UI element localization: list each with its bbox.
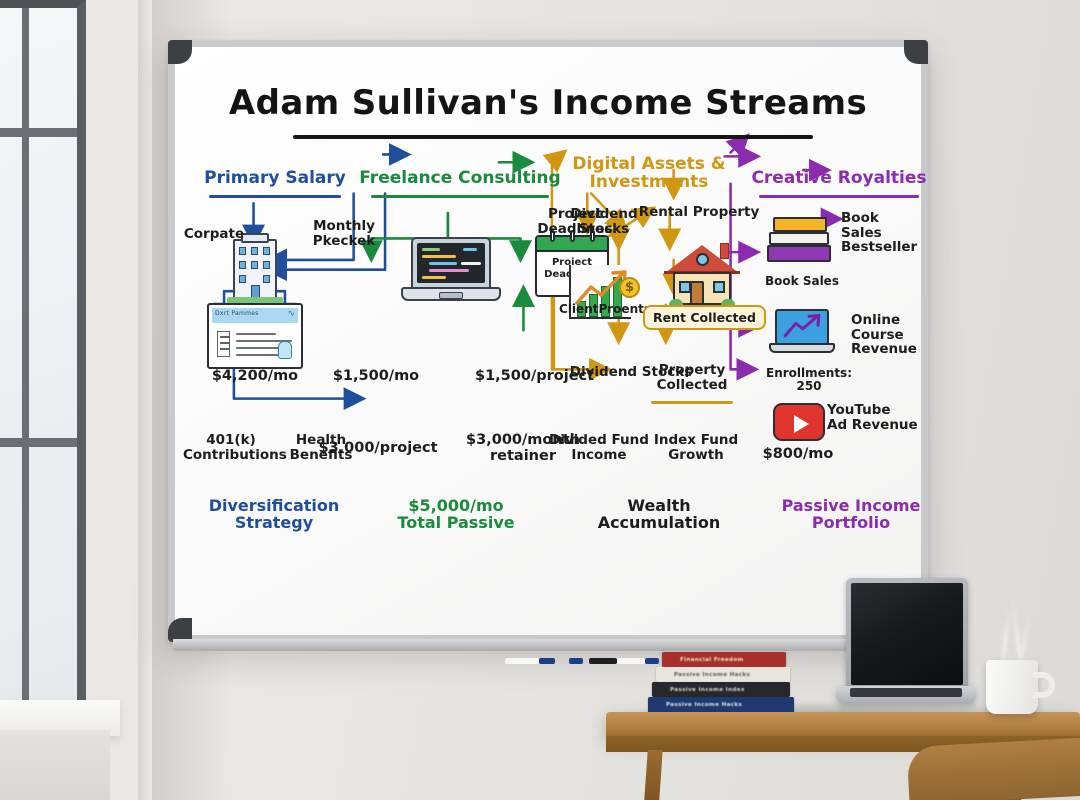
code-laptop-icon — [401, 237, 501, 309]
property-collected-underline — [651, 401, 733, 404]
laptop-screen[interactable] — [851, 583, 963, 685]
marker-black[interactable] — [589, 658, 617, 664]
youtube-group — [773, 403, 829, 445]
freelance-laptop-group — [375, 215, 525, 315]
dollar-coin-icon: $ — [619, 277, 640, 298]
desk-book-stack: Financial Freedom Passive Income Hacks P… — [648, 652, 798, 714]
digital-assets-summary: Wealth Accumulation — [579, 497, 739, 532]
paycheck-header-text: Dxrt Pammes — [215, 310, 259, 317]
enrollments-caption: Enrollments: 250 — [753, 367, 865, 393]
column-heading-creative-royalties: Creative Royalties — [749, 169, 929, 187]
window-sill-front — [0, 730, 110, 800]
corporate-label: Corpate — [177, 227, 251, 242]
whiteboard: Adam Sullivan's Income Streams Primary S… — [168, 40, 928, 642]
column-heading-digital-assets: Digital Assets & Investments — [559, 155, 739, 192]
house-group — [651, 225, 751, 315]
column-heading-freelance-consulting: Freelance Consulting — [357, 169, 563, 187]
desk-surface — [606, 712, 1080, 738]
column-underline-primary-salary — [209, 195, 341, 198]
freelance-summary: $5,000/mo Total Passive — [371, 497, 541, 532]
desk-chair — [907, 737, 1080, 800]
column-underline-freelance-consulting — [371, 195, 549, 198]
dividend-stocks-label: Dividend Stocks — [561, 207, 647, 236]
rental-property-label: Rental Property — [637, 205, 761, 220]
column-underline-creative-royalties — [759, 195, 919, 198]
book-red: Financial Freedom — [662, 652, 786, 667]
office-whiteboard-scene: Adam Sullivan's Income Streams Primary S… — [0, 0, 1080, 800]
marker-blue[interactable] — [505, 658, 539, 664]
property-collected-node: Property Collected — [643, 363, 741, 392]
office-building-icon — [227, 233, 283, 305]
youtube-amount: $800/mo — [755, 447, 841, 463]
creative-royalties-summary: Passive Income Portfolio — [767, 497, 935, 532]
project-fee: $3,000/project — [317, 441, 439, 457]
desk-laptop[interactable] — [836, 578, 976, 712]
window-frame — [0, 0, 86, 706]
book-blue: Passive Income Hacks — [648, 697, 794, 713]
course-trend-arrow-icon — [777, 311, 827, 343]
primary-salary-summary: Diversification Strategy — [189, 497, 359, 532]
whiteboard-diagram: Adam Sullivan's Income Streams Primary S… — [175, 47, 921, 635]
paycheck-signature-icon: ∿ — [287, 309, 295, 319]
coffee-mug — [986, 660, 1038, 714]
salary-amount: $4,200/mo — [193, 369, 317, 385]
book-sales-caption: Book Sales — [759, 275, 845, 288]
dividend-fund-income-node: Divided Fund Income — [547, 433, 651, 462]
marker-white-body[interactable] — [617, 658, 645, 664]
marker-blue[interactable] — [569, 658, 583, 664]
online-course-revenue-node: Online Course Revenue — [851, 313, 943, 357]
title-underline — [293, 135, 813, 139]
index-fund-growth-node: Index Fund Growth — [647, 433, 745, 462]
growth-chart-group: $ — [559, 239, 655, 335]
laptop-keyboard[interactable] — [850, 688, 962, 697]
retirement-node: 401(k) Contributions — [183, 433, 279, 462]
course-laptop-icon — [769, 309, 835, 359]
column-heading-primary-salary: Primary Salary — [195, 169, 355, 187]
youtube-ad-revenue-node: YouTube Ad Revenue — [827, 403, 925, 432]
book-stack-group — [767, 215, 837, 275]
youtube-play-icon — [773, 403, 825, 441]
book-sales-bestseller-node: Book Sales Bestseller — [841, 211, 931, 255]
rent-collected-pill: Rent Collected — [643, 305, 766, 330]
monthly-rate: $1,500/mo — [321, 369, 431, 385]
house-icon — [665, 245, 739, 307]
book-white: Passive Income Hacks — [656, 667, 790, 682]
marker-blue-cap[interactable] — [539, 658, 555, 664]
book-stack-icon — [767, 215, 833, 269]
page-title: Adam Sullivan's Income Streams — [175, 85, 921, 122]
course-laptop-group — [769, 309, 839, 363]
window — [0, 0, 96, 736]
paycheck-document-icon: Dxrt Pammes ∿ — [207, 303, 303, 369]
wall-corner — [138, 0, 152, 800]
book-black: Passive Income Index — [652, 682, 790, 697]
marker-tray — [173, 639, 937, 651]
